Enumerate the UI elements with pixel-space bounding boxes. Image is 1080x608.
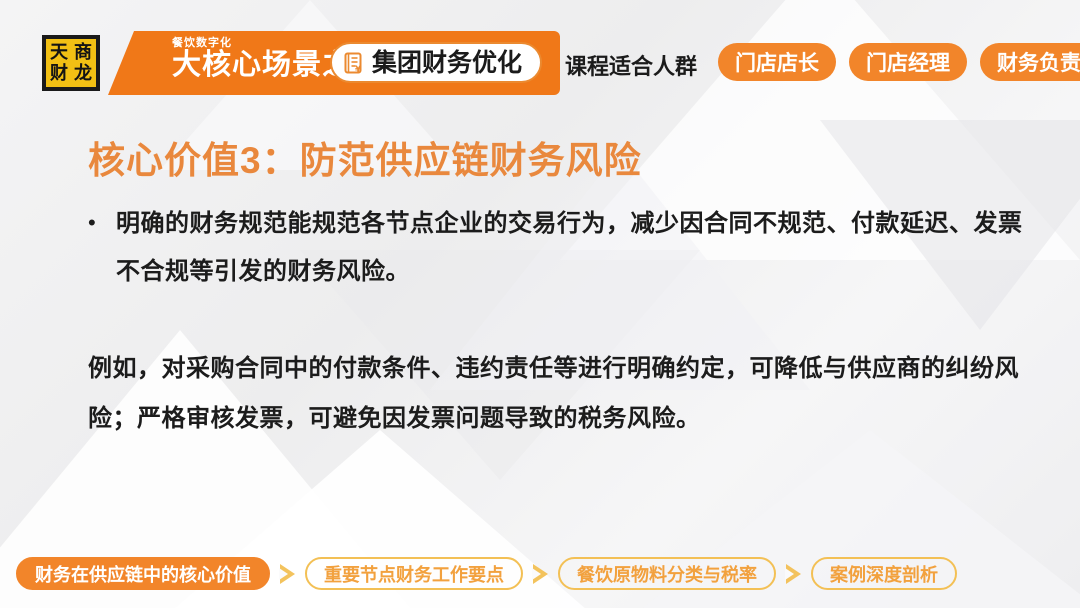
nav-item-key-nodes[interactable]: 重要节点财务工作要点 [305, 557, 523, 590]
nav-item-core-value[interactable]: 财务在供应链中的核心价值 [16, 557, 270, 590]
ledger-yen-icon: ¥ [342, 51, 364, 75]
audience-pill-branch-manager[interactable]: 门店经理 [849, 43, 967, 81]
body-paragraph: 例如，对采购合同中的付款条件、违约责任等进行明确约定，可降低与供应商的纠纷风险；… [88, 344, 1028, 444]
slide-root: 天 商 财 龙 10 餐饮数字化 大核心场景之 ¥ 集团财务优化 课程适合人群 [0, 0, 1080, 608]
svg-text:¥: ¥ [355, 65, 362, 75]
logo-char: 商 [71, 42, 95, 63]
nav-item-material-tax[interactable]: 餐饮原物料分类与税率 [558, 557, 776, 590]
bullet-item: • 明确的财务规范能规范各节点企业的交易行为，减少因合同不规范、付款延迟、发票不… [88, 200, 1028, 296]
logo-char: 财 [47, 63, 71, 84]
triangle-right-icon [786, 564, 801, 584]
banner-main-text: 大核心场景之 [172, 47, 352, 83]
bottom-nav: 财务在供应链中的核心价值 重要节点财务工作要点 餐饮原物料分类与税率 案例深度剖… [16, 557, 957, 590]
triangle-right-icon [533, 564, 548, 584]
audience-pill-store-manager[interactable]: 门店店长 [718, 43, 836, 81]
audience-label: 课程适合人群 [565, 49, 697, 81]
bullet-text: 明确的财务规范能规范各节点企业的交易行为，减少因合同不规范、付款延迟、发票不合规… [116, 200, 1028, 296]
nav-item-case-analysis[interactable]: 案例深度剖析 [811, 557, 957, 590]
brand-logo: 天 商 财 龙 [42, 35, 100, 91]
bullet-marker: • [88, 200, 116, 296]
page-title: 核心价值3：防范供应链财务风险 [88, 130, 642, 184]
logo-char: 天 [47, 42, 71, 63]
topic-pill[interactable]: ¥ 集团财务优化 [330, 42, 542, 83]
logo-char: 龙 [71, 63, 95, 84]
audience-pill-finance-lead[interactable]: 财务负责人 [980, 43, 1080, 81]
audience-pill-group: 门店店长 门店经理 财务负责人 [718, 43, 1080, 81]
header-bar: 天 商 财 龙 10 餐饮数字化 大核心场景之 ¥ 集团财务优化 课程适合人群 [0, 31, 1080, 95]
triangle-right-icon [280, 564, 295, 584]
topic-pill-label: 集团财务优化 [372, 48, 522, 78]
